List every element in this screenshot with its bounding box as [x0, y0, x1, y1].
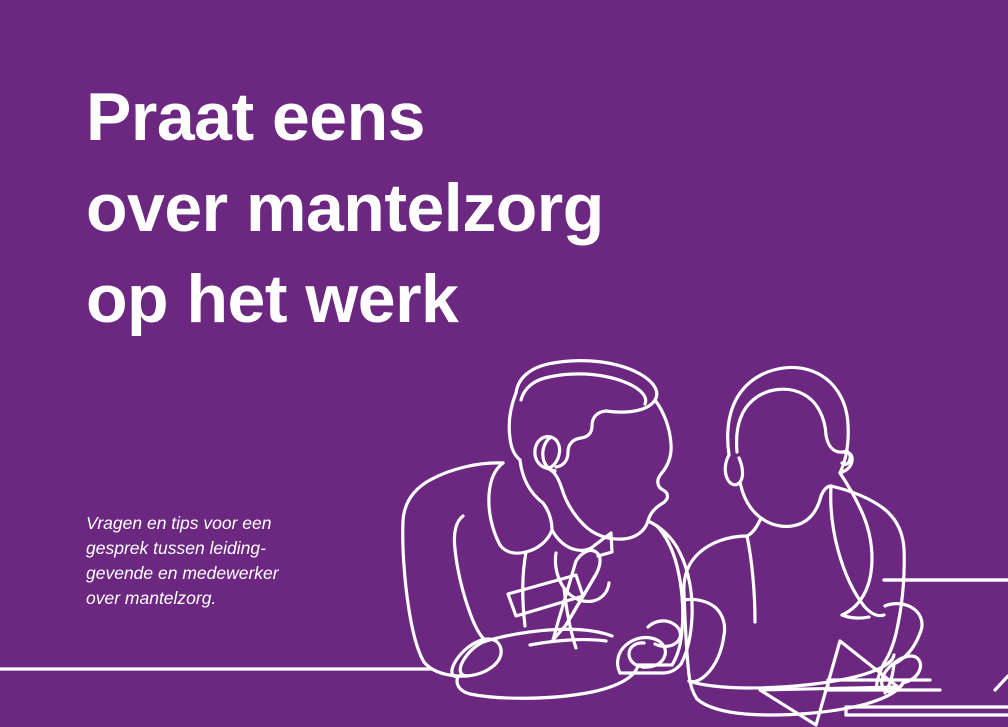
title-line-2: over mantelzorg	[86, 163, 786, 254]
cover-page: Praat eens over mantelzorg op het werk V…	[0, 0, 1008, 727]
subtitle-line-2: gesprek tussen leiding-	[86, 536, 336, 561]
laptop-icon	[760, 580, 1008, 725]
subtitle-line-3: gevende en medewerker	[86, 561, 336, 586]
man-writing-figure	[403, 361, 692, 699]
woman-seated-figure	[684, 368, 922, 715]
subtitle-line-4: over mantelzorg.	[86, 586, 336, 611]
page-title: Praat eens over mantelzorg op het werk	[86, 72, 786, 345]
subtitle-line-1: Vragen en tips voor een	[86, 511, 336, 536]
page-subtitle: Vragen en tips voor een gesprek tussen l…	[86, 511, 336, 611]
title-line-3: op het werk	[86, 254, 786, 345]
title-line-1: Praat eens	[86, 72, 786, 163]
